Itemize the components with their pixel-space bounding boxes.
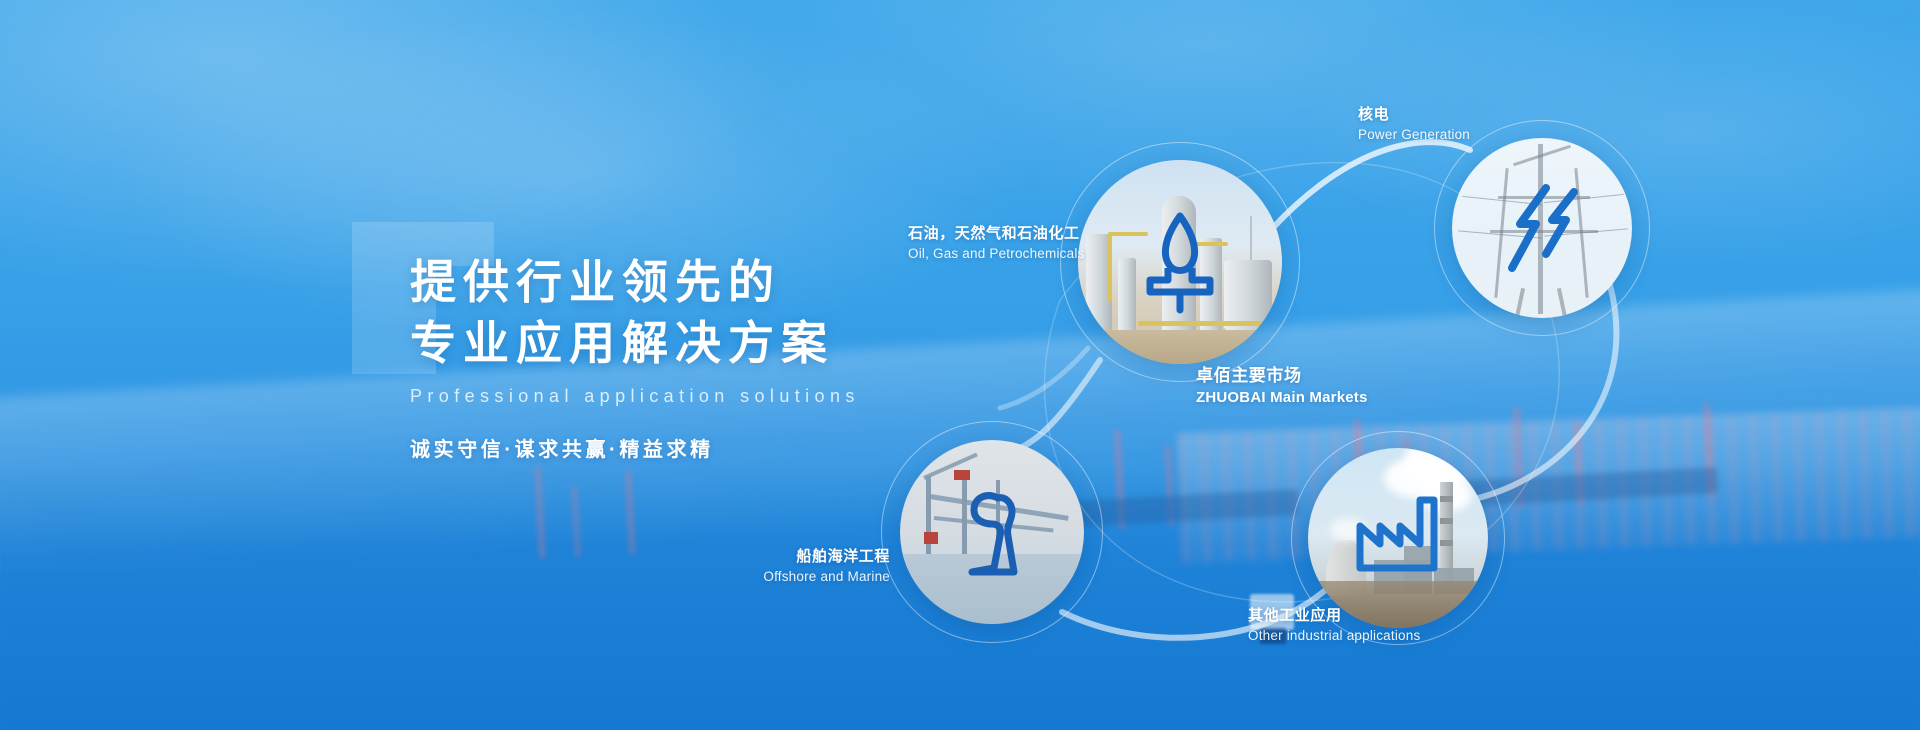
center-label-en: ZHUOBAI Main Markets [1196,389,1368,406]
label-marine: 船舶海洋工程 Offshore and Marine [620,545,890,584]
marine-photo [900,440,1084,624]
label-marine-cn: 船舶海洋工程 [620,545,890,566]
oil-gas-photo [1078,160,1282,364]
label-power: 核电 Power Generation [1358,103,1470,142]
label-power-cn: 核电 [1358,103,1470,124]
label-oil-gas-en: Oil, Gas and Petrochemicals [908,246,1068,261]
factory-icon [1308,448,1488,628]
label-industrial: 其他工业应用 Other industrial applications [1248,604,1420,643]
power-photo [1452,138,1632,318]
center-label-cn: 卓佰主要市场 [1196,361,1368,386]
ship-anchor-icon [900,440,1084,624]
center-label: 卓佰主要市场 ZHUOBAI Main Markets [1196,361,1368,406]
industrial-photo [1308,448,1488,628]
gas-burner-icon [1078,160,1282,364]
label-power-en: Power Generation [1358,127,1470,142]
label-industrial-en: Other industrial applications [1248,628,1420,643]
label-marine-en: Offshore and Marine [620,569,890,584]
label-oil-gas: 石油，天然气和石油化工 Oil, Gas and Petrochemicals [908,222,1068,261]
label-industrial-cn: 其他工业应用 [1248,604,1420,625]
hero-banner: 提供行业领先的 专业应用解决方案 Professional applicatio… [0,0,1920,730]
lightning-bolt-icon [1452,138,1632,318]
label-oil-gas-cn: 石油，天然气和石油化工 [908,222,1068,243]
